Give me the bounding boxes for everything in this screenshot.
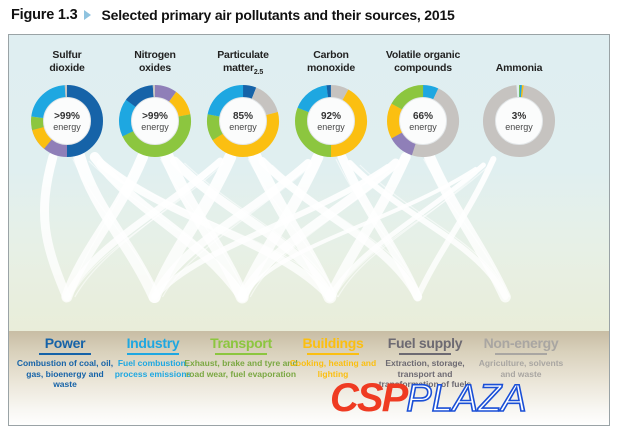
triangle-right-icon xyxy=(84,10,91,20)
source-title: Non-energy xyxy=(471,335,571,352)
donut-center-label: 85% energy xyxy=(219,97,267,145)
pollutant-label-line1: Nitrogen xyxy=(134,49,176,61)
energy-share-caption: energy xyxy=(141,122,169,132)
energy-share-value: 92% xyxy=(321,111,341,122)
pollutant-label-line1: Particulate xyxy=(217,49,269,61)
donut-chart[interactable]: >99% energy xyxy=(117,83,193,159)
pollutant-label-line2: oxides xyxy=(139,62,171,74)
source-fuel-supply[interactable]: Fuel supply Extraction, storage, transpo… xyxy=(375,335,475,390)
source-title: Power xyxy=(15,335,115,352)
source-underline xyxy=(127,353,179,355)
source-transport[interactable]: Transport Exhaust, brake and tyre and ro… xyxy=(191,335,291,379)
donut-center-label: 92% energy xyxy=(307,97,355,145)
pollutant-carbon-monoxide[interactable]: Carbon monoxide 92% energy xyxy=(283,49,379,159)
energy-share-caption: energy xyxy=(229,122,257,132)
pollutant-label: Sulfur dioxide xyxy=(19,49,115,77)
source-non-energy[interactable]: Non-energy Agriculture, solvents and was… xyxy=(471,335,571,379)
energy-share-value: >99% xyxy=(54,111,80,122)
pollutant-label-line1: Sulfur xyxy=(52,49,81,61)
pollutant-label-line1: Ammonia xyxy=(496,62,542,74)
donut-chart[interactable]: 92% energy xyxy=(293,83,369,159)
pollutant-label: Particulate matter2.5 xyxy=(195,49,291,77)
energy-share-value: 85% xyxy=(233,111,253,122)
donut-center-label: >99% energy xyxy=(131,97,179,145)
pollutant-label-line2: dioxide xyxy=(49,62,84,74)
source-title: Transport xyxy=(191,335,291,352)
donut-chart[interactable]: >99% energy xyxy=(29,83,105,159)
pollutant-label: Volatile organic compounds xyxy=(367,49,479,77)
pollutant-label: Nitrogen oxides xyxy=(107,49,203,77)
sources-legend-panel: Power Combustion of coal, oil, gas, bioe… xyxy=(9,331,609,426)
energy-share-value: 3% xyxy=(512,111,526,122)
pollutant-nitrogen-oxides[interactable]: Nitrogen oxides >99% energy xyxy=(107,49,203,159)
source-underline xyxy=(399,353,451,355)
energy-share-caption: energy xyxy=(505,122,533,132)
figure-number: Figure 1.3 xyxy=(11,7,78,23)
energy-share-value: >99% xyxy=(142,111,168,122)
source-underline xyxy=(495,353,547,355)
source-title: Industry xyxy=(103,335,203,352)
pollutant-label-subscript: 2.5 xyxy=(254,69,263,76)
source-description: Agriculture, solvents and waste xyxy=(471,358,571,379)
source-power[interactable]: Power Combustion of coal, oil, gas, bioe… xyxy=(15,335,115,390)
pollutant-label: Carbon monoxide xyxy=(283,49,379,77)
pollutant-label-line2: monoxide xyxy=(307,62,355,74)
pollutant-label-line2: compounds xyxy=(394,62,452,74)
source-title: Buildings xyxy=(283,335,383,352)
donut-center-label: 3% energy xyxy=(495,97,543,145)
pollutant-label-line2: matter xyxy=(223,62,254,74)
figure-header: Figure 1.3 Selected primary air pollutan… xyxy=(0,0,620,30)
pollutant-label-line1: Volatile organic xyxy=(386,49,460,61)
donut-center-label: >99% energy xyxy=(43,97,91,145)
energy-share-caption: energy xyxy=(409,122,437,132)
source-description: Extraction, storage, transport and trans… xyxy=(367,358,483,390)
figure-frame: Sulfur dioxide >99% energy Nitrog xyxy=(8,34,610,426)
source-title: Fuel supply xyxy=(375,335,475,352)
energy-share-value: 66% xyxy=(413,111,433,122)
pollutant-particulate-matter[interactable]: Particulate matter2.5 85% energy xyxy=(195,49,291,159)
energy-share-caption: energy xyxy=(53,122,81,132)
donut-chart[interactable]: 85% energy xyxy=(205,83,281,159)
pollutant-ammonia[interactable]: Ammonia 3% energy xyxy=(471,49,567,159)
pollutant-volatile-organic-compounds[interactable]: Volatile organic compounds 66% energy xyxy=(367,49,479,159)
donut-chart[interactable]: 66% energy xyxy=(385,83,461,159)
source-underline xyxy=(215,353,267,355)
pollutant-sulfur-dioxide[interactable]: Sulfur dioxide >99% energy xyxy=(19,49,115,159)
pollutant-label-line1: Carbon xyxy=(313,49,349,61)
donut-center-label: 66% energy xyxy=(399,97,447,145)
donut-chart[interactable]: 3% energy xyxy=(481,83,557,159)
source-underline xyxy=(39,353,91,355)
pollutant-label: Ammonia xyxy=(471,49,567,77)
source-description: Combustion of coal, oil, gas, bioenergy … xyxy=(15,358,115,390)
figure-title: Selected primary air pollutants and thei… xyxy=(102,7,455,23)
energy-share-caption: energy xyxy=(317,122,345,132)
source-underline xyxy=(307,353,359,355)
source-description: Exhaust, brake and tyre and road wear, f… xyxy=(183,358,299,379)
